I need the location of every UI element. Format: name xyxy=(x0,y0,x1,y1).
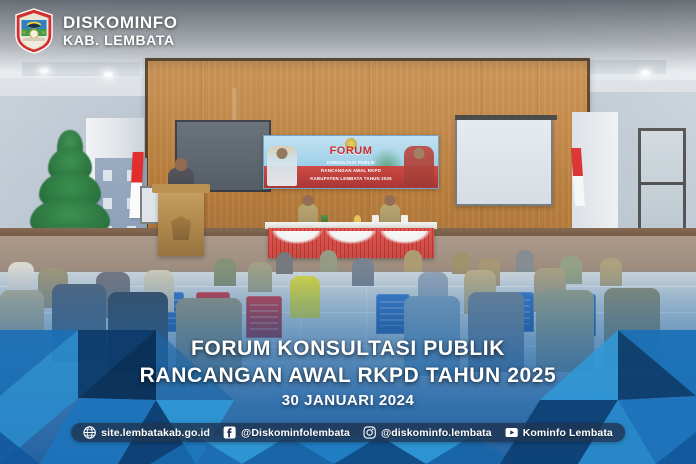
poster-image: FORUM KONSULTASI PUBLIK RANCANGAN AWAL R… xyxy=(0,0,696,464)
podium-top xyxy=(152,184,210,193)
brand-line-2: KAB. LEMBATA xyxy=(63,33,178,48)
footer-item-facebook[interactable]: @Diskominfolembata xyxy=(223,426,350,439)
poster-title-block: FORUM KONSULTASI PUBLIK RANCANGAN AWAL R… xyxy=(0,336,696,412)
podium-crest-icon xyxy=(171,216,191,240)
footer-label-website: site.lembatakab.go.id xyxy=(101,427,210,439)
title-date: 30 JANUARI 2024 xyxy=(0,390,696,412)
banner-headline: FORUM xyxy=(330,145,373,157)
window-right xyxy=(638,128,686,240)
title-line-2: RANCANGAN AWAL RKPD TAHUN 2025 xyxy=(0,362,696,390)
title-line-1: FORUM KONSULTASI PUBLIK xyxy=(0,336,696,362)
svg-text:M: M xyxy=(23,30,27,35)
footer-label-instagram: @diskominfo.lembata xyxy=(381,427,492,439)
table-swag xyxy=(379,231,431,244)
banner-portrait-left xyxy=(267,146,297,186)
banner-line-2: RANCANGAN AWAL RKPD xyxy=(321,168,381,173)
footer-label-facebook: @Diskominfolembata xyxy=(241,427,350,439)
globe-icon xyxy=(83,426,96,439)
footer-item-instagram[interactable]: @diskominfo.lembata xyxy=(363,426,492,439)
svg-text:N: N xyxy=(42,30,45,35)
footer-item-website[interactable]: site.lembatakab.go.id xyxy=(83,426,210,439)
banner-line-1: KONSULTASI PUBLIK xyxy=(327,160,376,165)
social-media-bar: site.lembatakab.go.id @Diskominfolembata… xyxy=(71,423,625,442)
brand-lockup: M N DISKOMINFO KAB. LEMBATA xyxy=(14,8,178,54)
youtube-icon xyxy=(505,426,518,439)
facebook-icon xyxy=(223,426,236,439)
brand-line-1: DISKOMINFO xyxy=(63,14,178,32)
ceiling-downlight xyxy=(104,72,113,77)
banner-line-3: KABUPATEN LEMBATA TAHUN 2025 xyxy=(310,176,392,181)
table-swag xyxy=(325,231,377,244)
projector-screen-right xyxy=(455,118,553,206)
footer-label-youtube: Kominfo Lembata xyxy=(523,427,613,439)
lembata-regency-crest-icon: M N xyxy=(14,8,54,54)
podium xyxy=(158,190,204,256)
banner-portrait-right xyxy=(404,146,434,186)
table-swag xyxy=(271,231,323,244)
instagram-icon xyxy=(363,426,376,439)
footer-item-youtube[interactable]: Kominfo Lembata xyxy=(505,426,613,439)
event-banner: FORUM KONSULTASI PUBLIK RANCANGAN AWAL R… xyxy=(263,135,439,189)
